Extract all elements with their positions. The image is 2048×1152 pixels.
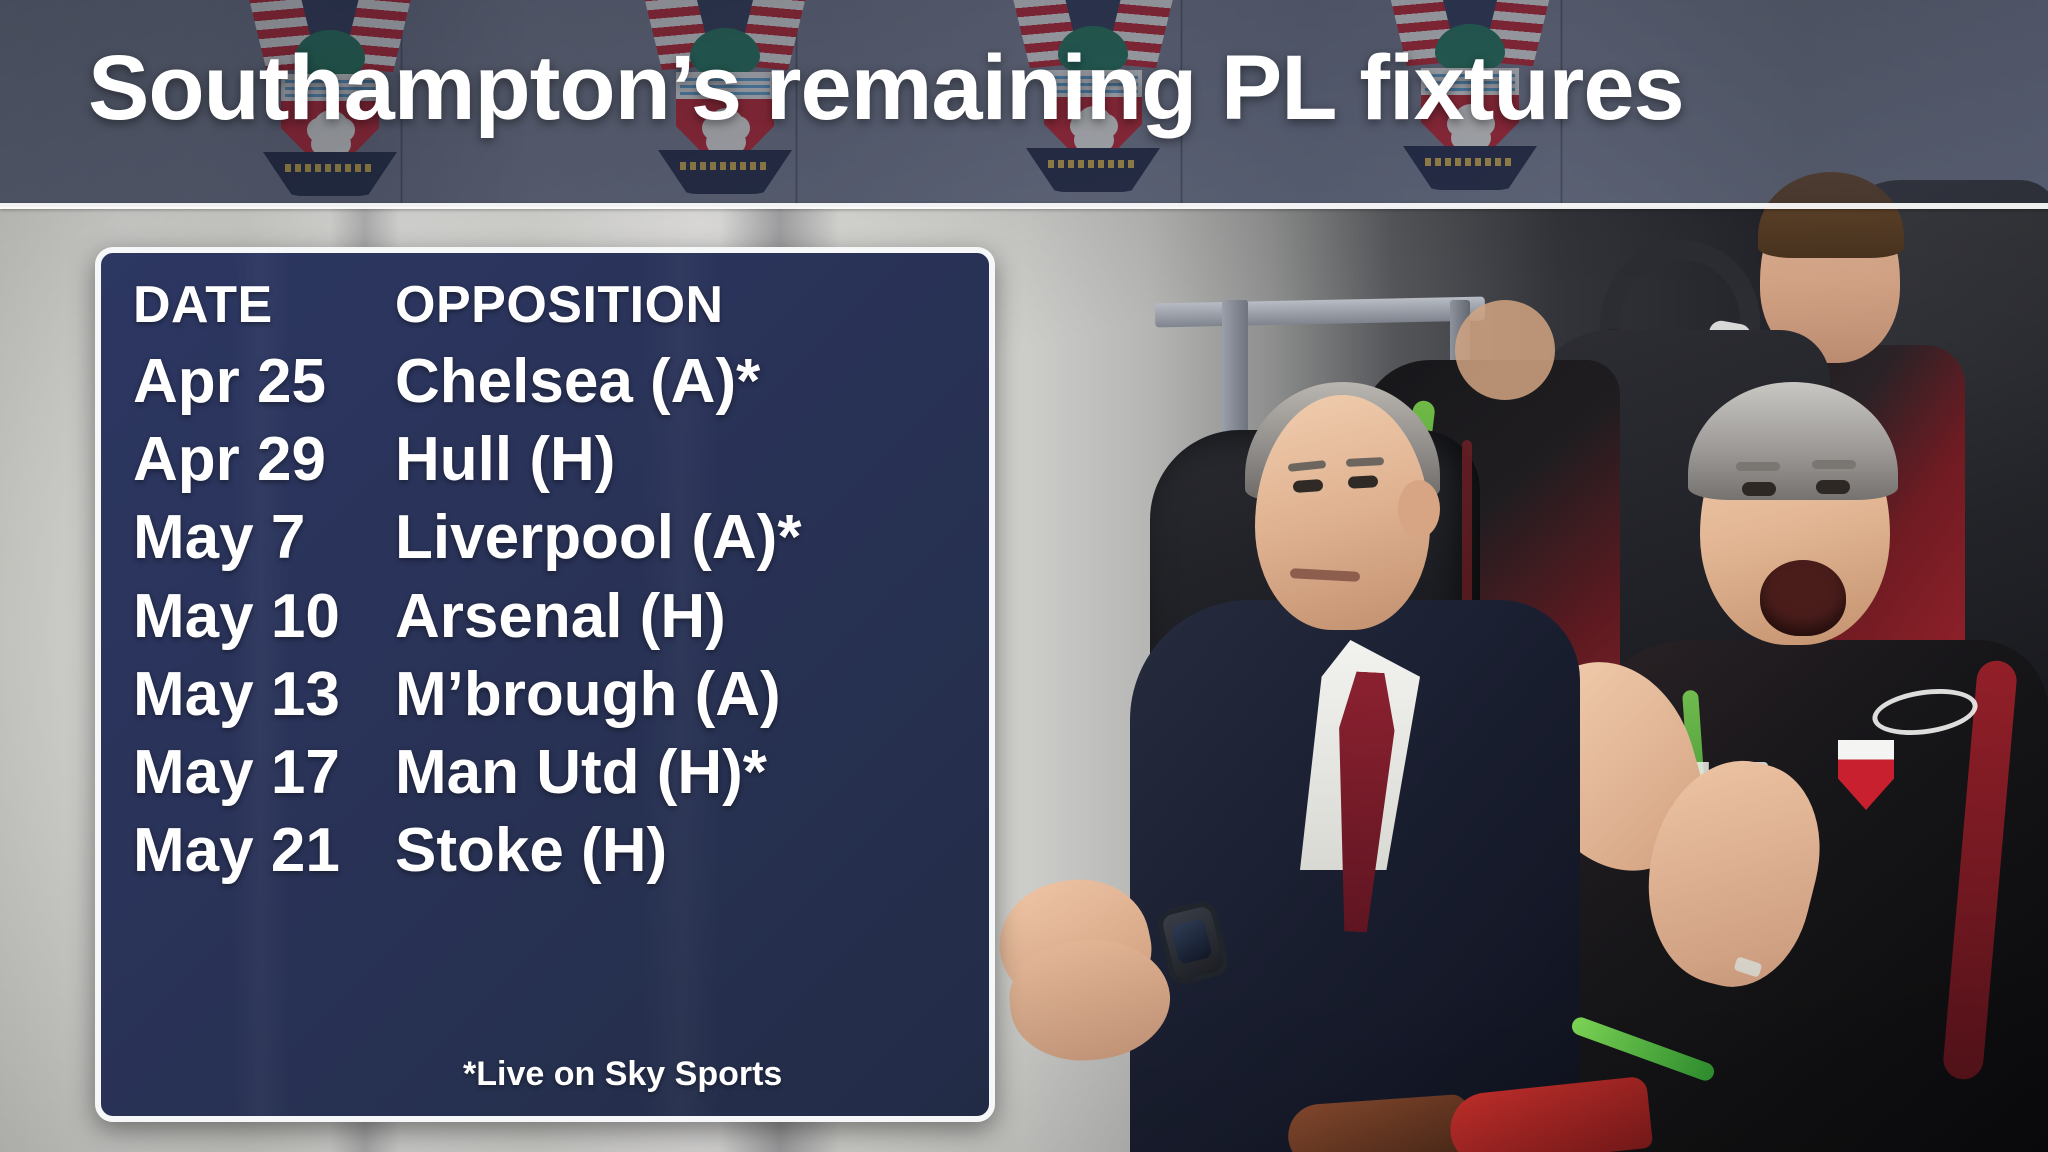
fixture-opposition: Chelsea (A)* bbox=[395, 350, 989, 413]
table-row: Apr 29 Hull (H) bbox=[101, 428, 989, 491]
coach-eye bbox=[1742, 482, 1776, 496]
fixture-date: May 13 bbox=[133, 663, 395, 726]
background-staff-head bbox=[1455, 300, 1555, 400]
footnote-live-on-sky-sports: *Live on Sky Sports bbox=[463, 1055, 782, 1094]
column-header-opposition: OPPOSITION bbox=[395, 275, 989, 335]
manager-eye bbox=[1293, 479, 1324, 493]
fixture-date: May 17 bbox=[133, 741, 395, 804]
fixture-opposition: M’brough (A) bbox=[395, 663, 989, 726]
table-row: May 10 Arsenal (H) bbox=[101, 585, 989, 648]
fixture-opposition: Man Utd (H)* bbox=[395, 741, 989, 804]
table-row: May 13 M’brough (A) bbox=[101, 663, 989, 726]
fixture-opposition: Liverpool (A)* bbox=[395, 506, 989, 569]
table-row: May 21 Stoke (H) bbox=[101, 819, 989, 882]
table-row: May 7 Liverpool (A)* bbox=[101, 506, 989, 569]
fixtures-panel: DATE OPPOSITION Apr 25 Chelsea (A)* Apr … bbox=[95, 247, 995, 1122]
column-header-date: DATE bbox=[133, 275, 395, 335]
fixture-date: Apr 29 bbox=[133, 428, 395, 491]
fixture-date: Apr 25 bbox=[133, 350, 395, 413]
page-title: Southampton’s remaining PL fixtures bbox=[88, 36, 1988, 142]
coach-mouth bbox=[1760, 560, 1846, 636]
fixture-date: May 21 bbox=[133, 819, 395, 882]
manager-ear bbox=[1398, 480, 1440, 538]
fixture-date: May 7 bbox=[133, 506, 395, 569]
coach-eyebrow bbox=[1812, 460, 1856, 469]
coach-eyebrow bbox=[1736, 462, 1780, 471]
fixture-opposition: Hull (H) bbox=[395, 428, 989, 491]
fixture-date: May 10 bbox=[133, 585, 395, 648]
coach-eye bbox=[1816, 480, 1850, 494]
fixture-opposition: Stoke (H) bbox=[395, 819, 989, 882]
table-header-row: DATE OPPOSITION bbox=[101, 275, 989, 335]
manager-eye bbox=[1348, 475, 1379, 489]
table-row: May 17 Man Utd (H)* bbox=[101, 741, 989, 804]
title-divider-rule bbox=[0, 203, 2048, 209]
graphic-canvas: Southampton’s remaining PL fixtures DATE… bbox=[0, 0, 2048, 1152]
fixture-opposition: Arsenal (H) bbox=[395, 585, 989, 648]
table-row: Apr 25 Chelsea (A)* bbox=[101, 350, 989, 413]
